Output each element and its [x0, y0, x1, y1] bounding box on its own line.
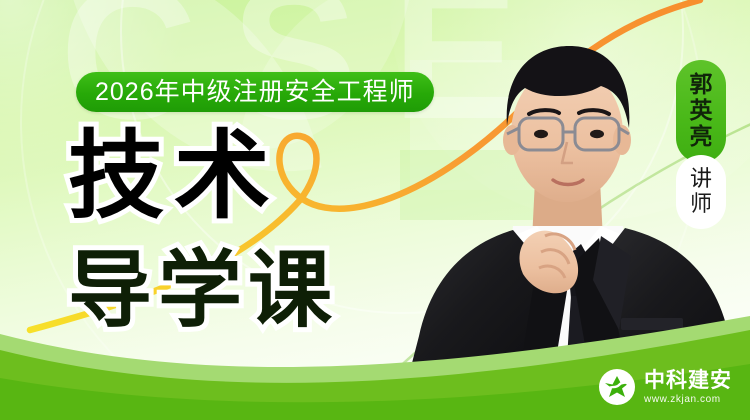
page-subtitle: 导学课	[68, 248, 338, 332]
instructor-tag: 郭 英 亮 讲 师	[676, 60, 726, 229]
zkjan-circle-logo-icon	[599, 369, 635, 405]
page-title: 技术	[68, 128, 280, 224]
instructor-role-char-2: 师	[690, 191, 712, 216]
instructor-name-char-2: 英	[690, 98, 713, 124]
brand-logo-text: 中科建安 www.zkjan.com	[644, 369, 732, 406]
brand-name: 中科建安	[644, 369, 732, 392]
brand-logo: 中科建安 www.zkjan.com	[599, 369, 732, 406]
course-badge-label: 2026年中级注册安全工程师	[95, 80, 415, 105]
instructor-name-char-3: 亮	[690, 124, 713, 150]
logo-glyph-icon	[602, 372, 632, 402]
course-poster: CSE	[0, 0, 750, 420]
brand-url: www.zkjan.com	[644, 394, 732, 406]
instructor-role-pill: 讲 师	[676, 155, 726, 229]
instructor-name-pill: 郭 英 亮	[676, 60, 726, 163]
course-badge: 2026年中级注册安全工程师	[76, 72, 434, 112]
instructor-role-char-1: 讲	[690, 166, 712, 191]
instructor-name-char-1: 郭	[690, 72, 713, 98]
